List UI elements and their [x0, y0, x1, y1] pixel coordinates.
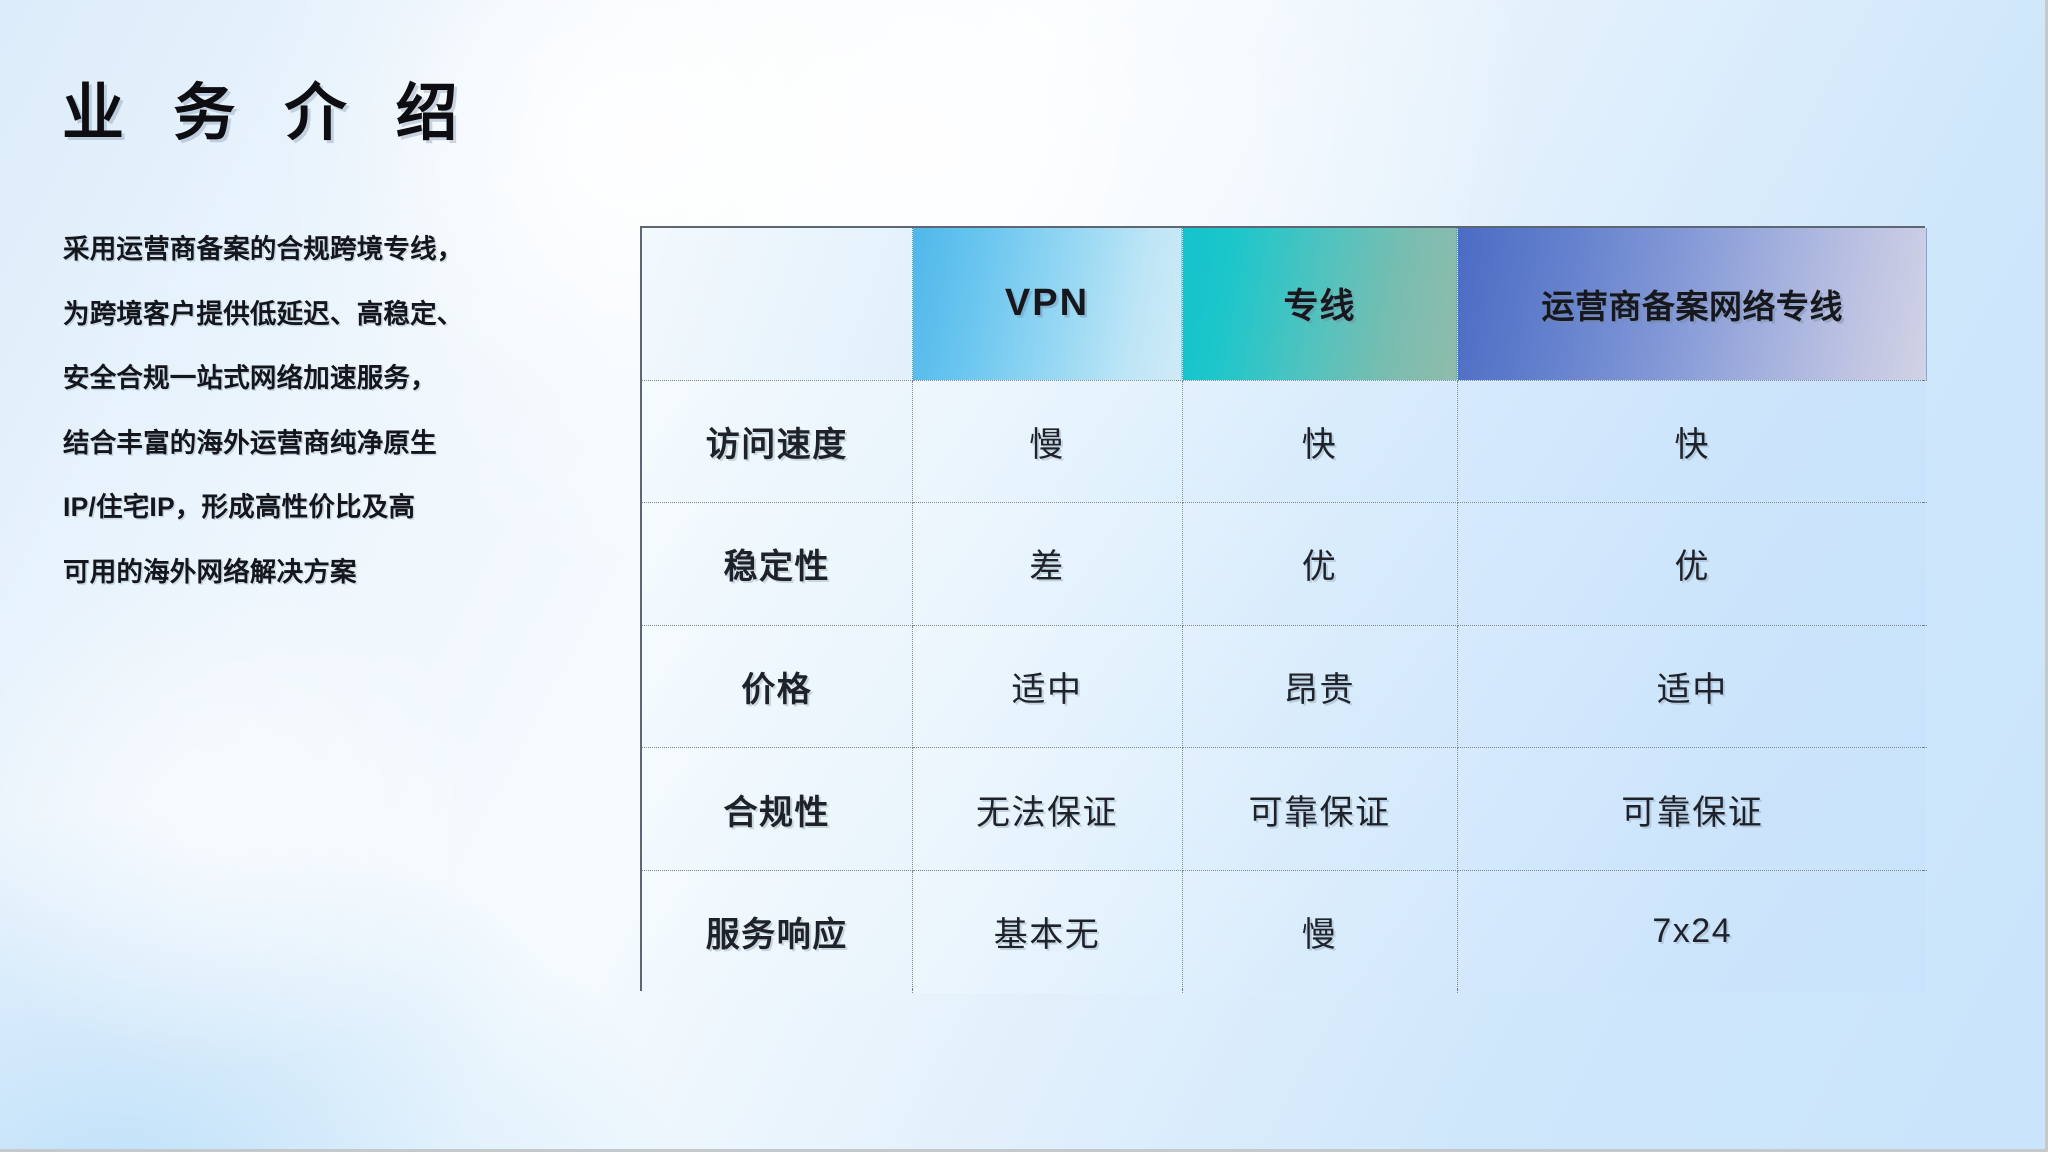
header-cell-vpn: VPN — [912, 228, 1182, 380]
row-label: 价格 — [642, 625, 912, 748]
table-row: 价格 适中 昂贵 适中 — [642, 625, 1927, 748]
cell-dedicated-line: 快 — [1182, 380, 1457, 503]
intro-line: 可用的海外网络解决方案 — [63, 559, 493, 586]
header-label-vpn: VPN — [1005, 282, 1089, 324]
row-label-text: 服务响应 — [706, 916, 848, 954]
intro-paragraph: 采用运营商备案的合规跨境专线， 为跨境客户提供低延迟、高稳定、 安全合规一站式网… — [63, 236, 493, 585]
comparison-table: VPN 专线 运营商备案网络专线 访问速度 慢 — [640, 226, 1925, 991]
cell-value: 适中 — [1657, 671, 1728, 709]
table-header-row: VPN 专线 运营商备案网络专线 — [642, 228, 1927, 380]
header-cell-carrier-line: 运营商备案网络专线 — [1457, 228, 1927, 380]
intro-line: 结合丰富的海外运营商纯净原生 — [63, 430, 493, 457]
cell-value: 昂贵 — [1284, 671, 1355, 709]
table-row: 访问速度 慢 快 快 — [642, 380, 1927, 503]
intro-line: 采用运营商备案的合规跨境专线， — [63, 236, 493, 263]
cell-vpn: 慢 — [912, 380, 1182, 503]
cell-vpn: 差 — [912, 503, 1182, 626]
table-row: 服务响应 基本无 慢 7x24 — [642, 870, 1927, 993]
cell-carrier-line: 7x24 — [1457, 870, 1927, 993]
cell-dedicated-line: 可靠保证 — [1182, 748, 1457, 871]
cell-value: 可靠保证 — [1249, 794, 1391, 832]
table-row: 合规性 无法保证 可靠保证 可靠保证 — [642, 748, 1927, 871]
slide-canvas: 业 务 介 绍 采用运营商备案的合规跨境专线， 为跨境客户提供低延迟、高稳定、 … — [0, 0, 2048, 1152]
cell-carrier-line: 快 — [1457, 380, 1927, 503]
cell-value: 7x24 — [1652, 912, 1732, 950]
intro-line: 安全合规一站式网络加速服务， — [63, 365, 493, 392]
header-cell-dedicated-line: 专线 — [1182, 228, 1457, 380]
cell-vpn: 适中 — [912, 625, 1182, 748]
row-label: 访问速度 — [642, 380, 912, 503]
row-label: 服务响应 — [642, 870, 912, 993]
cell-carrier-line: 适中 — [1457, 625, 1927, 748]
row-label: 合规性 — [642, 748, 912, 871]
header-cell-blank — [642, 228, 912, 380]
header-label-dedicated-line: 专线 — [1283, 287, 1355, 326]
cell-vpn: 无法保证 — [912, 748, 1182, 871]
cell-value: 无法保证 — [976, 794, 1118, 832]
cell-carrier-line: 优 — [1457, 503, 1927, 626]
cell-value: 差 — [1029, 548, 1065, 586]
cell-value: 优 — [1302, 548, 1338, 586]
cell-value: 基本无 — [994, 916, 1101, 954]
row-label-text: 价格 — [741, 671, 812, 709]
cell-carrier-line: 可靠保证 — [1457, 748, 1927, 871]
row-label-text: 合规性 — [724, 794, 831, 832]
cell-value: 慢 — [1302, 916, 1338, 954]
cell-dedicated-line: 优 — [1182, 503, 1457, 626]
cell-value: 适中 — [1012, 671, 1083, 709]
cell-value: 快 — [1302, 426, 1338, 464]
table-row: 稳定性 差 优 优 — [642, 503, 1927, 626]
cell-value: 优 — [1675, 548, 1711, 586]
row-label: 稳定性 — [642, 503, 912, 626]
cell-dedicated-line: 慢 — [1182, 870, 1457, 993]
cell-value: 快 — [1675, 426, 1711, 464]
cell-value: 慢 — [1029, 426, 1065, 464]
cell-dedicated-line: 昂贵 — [1182, 625, 1457, 748]
row-label-text: 访问速度 — [706, 426, 848, 464]
intro-line: IP/住宅IP，形成高性价比及高 — [63, 494, 493, 521]
cell-vpn: 基本无 — [912, 870, 1182, 993]
header-label-carrier-line: 运营商备案网络专线 — [1542, 288, 1844, 325]
row-label-text: 稳定性 — [724, 548, 831, 586]
cell-value: 可靠保证 — [1621, 794, 1763, 832]
intro-line: 为跨境客户提供低延迟、高稳定、 — [63, 301, 493, 328]
page-title: 业 务 介 绍 — [62, 62, 474, 152]
